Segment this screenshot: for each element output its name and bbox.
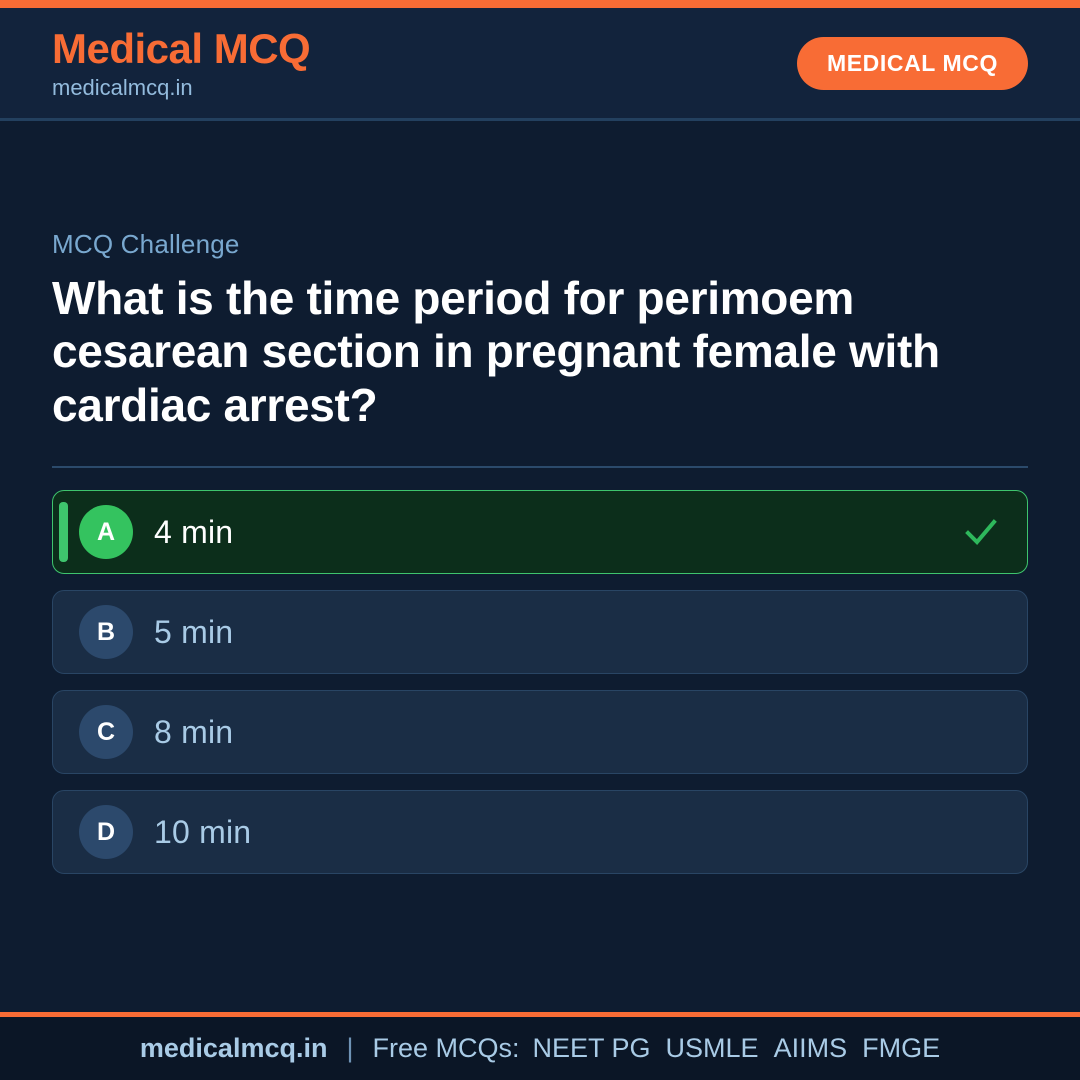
brand-title: Medical MCQ <box>52 28 310 70</box>
option-letter-c: C <box>79 705 133 759</box>
option-row-b[interactable]: B 5 min <box>52 590 1028 674</box>
brand: Medical MCQ medicalmcq.in <box>52 28 310 99</box>
mcq-card: Medical MCQ medicalmcq.in MEDICAL MCQ MC… <box>0 0 1080 1080</box>
option-text-b: 5 min <box>154 614 233 651</box>
option-text-d: 10 min <box>154 814 251 851</box>
footer: medicalmcq.in | Free MCQs: NEET PG USMLE… <box>0 1012 1080 1080</box>
brand-badge: MEDICAL MCQ <box>797 37 1028 90</box>
footer-separator: | <box>340 1033 359 1064</box>
option-text-a: 4 min <box>154 514 233 551</box>
main-content: MCQ Challenge What is the time period fo… <box>0 121 1080 1012</box>
section-divider <box>52 466 1028 468</box>
footer-exam-aiims: AIIMS <box>774 1033 848 1064</box>
footer-exam-neetpg: NEET PG <box>533 1033 651 1064</box>
option-letter-a: A <box>79 505 133 559</box>
question-text: What is the time period for perimoem ces… <box>52 272 952 432</box>
brand-site: medicalmcq.in <box>52 77 310 99</box>
eyebrow-label: MCQ Challenge <box>52 229 1028 260</box>
footer-exam-fmge: FMGE <box>862 1033 940 1064</box>
options-list: A 4 min B 5 min C 8 min <box>52 490 1028 874</box>
correct-accent-bar <box>59 502 68 562</box>
option-row-a[interactable]: A 4 min <box>52 490 1028 574</box>
option-letter-b: B <box>79 605 133 659</box>
header: Medical MCQ medicalmcq.in MEDICAL MCQ <box>0 8 1080 121</box>
option-letter-d: D <box>79 805 133 859</box>
check-icon <box>963 514 999 550</box>
footer-content: medicalmcq.in | Free MCQs: NEET PG USMLE… <box>140 1033 940 1064</box>
top-accent-bar <box>0 0 1080 8</box>
footer-label: Free MCQs: <box>372 1033 519 1064</box>
footer-site: medicalmcq.in <box>140 1033 328 1064</box>
option-text-c: 8 min <box>154 714 233 751</box>
option-row-c[interactable]: C 8 min <box>52 690 1028 774</box>
footer-exam-usmle: USMLE <box>666 1033 759 1064</box>
footer-exams: NEET PG USMLE AIIMS FMGE <box>533 1033 941 1064</box>
option-row-d[interactable]: D 10 min <box>52 790 1028 874</box>
